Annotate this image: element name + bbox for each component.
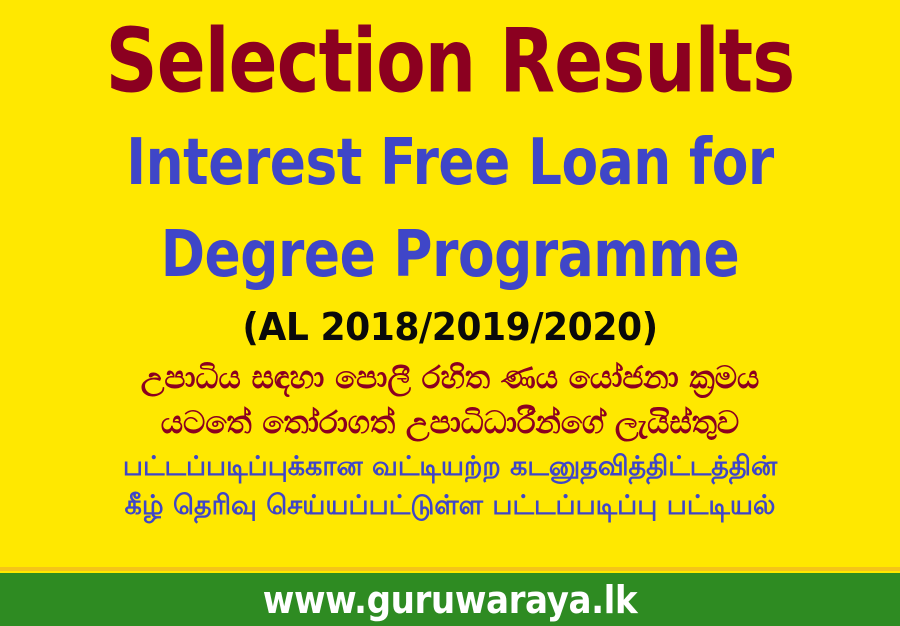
footer-bar: www.guruwaraya.lk <box>0 573 900 626</box>
sinhala-line-1: උපාධිය සඳහා පොලී රහිත ණය යෝජනා ක්‍රමය <box>0 363 900 394</box>
sinhala-line-2: යටතේ තෝරාගත් උපාධිධාරීන්ගේ ලැයිස්තුව <box>0 408 900 439</box>
subtitle-line-2: Degree Programme <box>36 222 864 286</box>
exam-years-label: (AL 2018/2019/2020) <box>23 308 878 346</box>
website-url[interactable]: www.guruwaraya.lk <box>263 581 637 619</box>
tamil-line-2: கீழ் தெரிவு செய்யப்பட்டுள்ள பட்டப்படிப்ப… <box>0 492 900 519</box>
selection-results-banner: Selection Results Interest Free Loan for… <box>0 0 900 626</box>
banner-content: Selection Results Interest Free Loan for… <box>0 0 900 560</box>
page-title: Selection Results <box>54 18 846 107</box>
subtitle-line-1: Interest Free Loan for <box>36 130 864 194</box>
tamil-line-1: பட்டப்படிப்புக்கான வட்டியற்ற கடனுதவித்தி… <box>0 453 900 480</box>
